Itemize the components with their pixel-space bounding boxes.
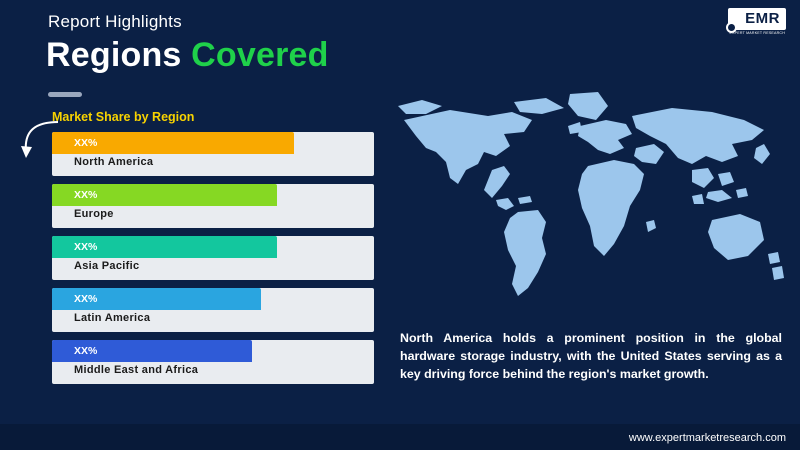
page-title-main: Regions bbox=[46, 36, 191, 74]
chart-bar-value: XX% bbox=[52, 137, 97, 149]
chart-bar-row: XX%North America bbox=[52, 132, 374, 176]
footer-url: www.expertmarketresearch.com bbox=[629, 432, 786, 444]
chart-bar-fill: XX% bbox=[52, 340, 252, 362]
chart-bar-value: XX% bbox=[52, 293, 97, 305]
chart-bar-fill: XX% bbox=[52, 132, 294, 154]
report-subtitle: Report Highlights bbox=[48, 12, 182, 32]
logo-text: EMR bbox=[745, 10, 780, 27]
page-title: Regions Covered bbox=[46, 36, 329, 75]
logo-caption: EXPERT MARKET RESEARCH bbox=[729, 31, 785, 35]
chart-bar-label: Middle East and Africa bbox=[74, 364, 198, 376]
chart-bar-label: Latin America bbox=[74, 312, 150, 324]
region-caption: North America holds a prominent position… bbox=[400, 330, 782, 384]
page-title-accent: Covered bbox=[191, 36, 328, 74]
emr-logo: EMR EXPERT MARKET RESEARCH bbox=[724, 8, 786, 38]
world-map-icon bbox=[392, 86, 792, 318]
chart-bar-fill: XX% bbox=[52, 184, 277, 206]
chart-bar-row: XX%Asia Pacific bbox=[52, 236, 374, 280]
chart-bar-value: XX% bbox=[52, 345, 97, 357]
chart-bar-label: North America bbox=[74, 156, 153, 168]
chart-bar-fill: XX% bbox=[52, 236, 277, 258]
chart-title: Market Share by Region bbox=[52, 110, 194, 124]
chart-bar-label: Europe bbox=[74, 208, 114, 220]
chart-bar-row: XX%Latin America bbox=[52, 288, 374, 332]
title-divider bbox=[48, 92, 82, 97]
chart-bar-row: XX%Middle East and Africa bbox=[52, 340, 374, 384]
chart-bar-row: XX%Europe bbox=[52, 184, 374, 228]
chart-bar-label: Asia Pacific bbox=[74, 260, 139, 272]
chart-bar-value: XX% bbox=[52, 241, 97, 253]
region-bar-chart: XX%North AmericaXX%EuropeXX%Asia Pacific… bbox=[52, 132, 374, 392]
chart-bar-fill: XX% bbox=[52, 288, 261, 310]
chart-bar-value: XX% bbox=[52, 189, 97, 201]
